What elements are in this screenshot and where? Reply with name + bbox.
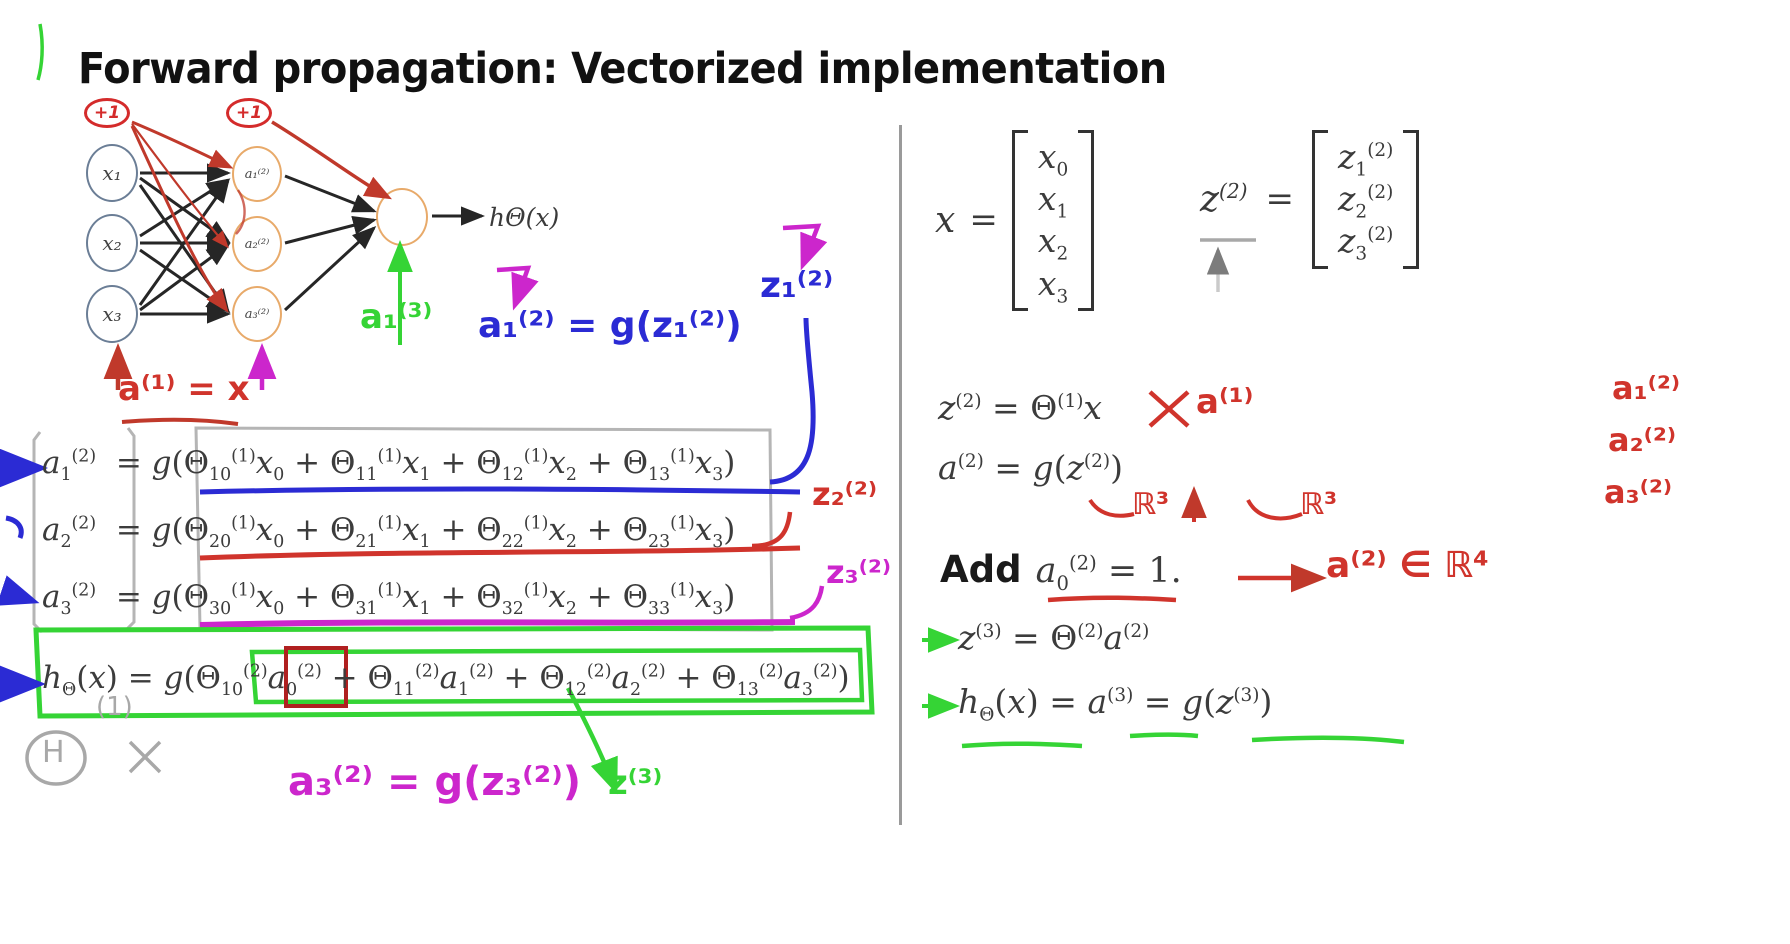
- x-vector-entry-1: x1: [1038, 178, 1068, 220]
- page-title: Forward propagation: Vectorized implemen…: [78, 44, 1167, 94]
- z-vector-entry-1: z2(2): [1338, 178, 1393, 220]
- annotation-z1-label: z₁⁽²⁾: [760, 268, 833, 304]
- equation-a1: a1(2) = g(Θ10(1)x0 + Θ11(1)x1 + Θ12(1)x2…: [42, 445, 735, 481]
- panel-divider: [899, 125, 902, 825]
- x-vector-name: x: [935, 200, 955, 241]
- annotation-a1-eq-g-z1: a₁⁽²⁾ = g(z₁⁽²⁾): [478, 308, 742, 344]
- annotation-z2-label: z₂⁽²⁾: [812, 478, 877, 510]
- equation-z3: z(3) = Θ(2)a(2): [958, 618, 1149, 657]
- input-node-x1-label: x₁: [102, 161, 121, 185]
- x-vector: x = x0 x1 x2 x3: [935, 130, 1094, 311]
- equation-z2: z(2) = Θ(1)x: [938, 388, 1102, 427]
- z-vector-equals: =: [1266, 179, 1295, 219]
- output-node: [376, 188, 428, 246]
- x-vector-matrix: x0 x1 x2 x3: [1012, 130, 1094, 311]
- equation-a2-text: a2(2) = g(Θ20(1)x0 + Θ21(1)x1 + Θ22(1)x2…: [42, 512, 735, 548]
- bias-node-layer1: +1: [84, 98, 130, 128]
- bias-node-layer2: +1: [226, 98, 272, 128]
- x-vector-entry-3: x3: [1038, 263, 1068, 305]
- add-bias-prefix: Add: [940, 548, 1022, 591]
- equation-a3-text: a3(2) = g(Θ30(1)x0 + Θ31(1)x1 + Θ32(1)x2…: [42, 579, 735, 615]
- hidden-node-a1-label: a₁⁽²⁾: [245, 167, 270, 182]
- hidden-node-a2: a₂⁽²⁾: [232, 216, 282, 272]
- annotation-grey-H-circle: H: [42, 738, 65, 768]
- annotation-a1-layer3: a₁⁽³⁾: [360, 300, 432, 334]
- annotation-z3-label: z₃⁽²⁾: [826, 556, 891, 588]
- x-vector-entry-2: x2: [1038, 220, 1068, 262]
- input-node-x2: x₂: [86, 214, 138, 272]
- bracket-right: [1403, 130, 1419, 269]
- equation-a3: a3(2) = g(Θ30(1)x0 + Θ31(1)x1 + Θ32(1)x2…: [42, 579, 735, 615]
- annotation-a1-equals-x: a⁽¹⁾ = x: [118, 372, 250, 406]
- annotation-a-vec-1: a₁⁽²⁾: [1612, 372, 1680, 404]
- z-vector: z(2) = z1(2) z2(2) z3(2): [1200, 130, 1419, 269]
- annotation-a-vec-2: a₂⁽²⁾: [1608, 424, 1676, 456]
- annotation-a1-red-sub: a⁽¹⁾: [1196, 385, 1253, 419]
- equation-hypothesis-text: hΘ(x) = g(Θ10(2)a0(2) + Θ11(2)a1(2) + Θ1…: [42, 660, 850, 696]
- input-node-x3-label: x₃: [102, 302, 121, 326]
- z-vector-entry-0: z1(2): [1338, 136, 1393, 178]
- annotation-a-vec-3: a₃⁽²⁾: [1604, 476, 1672, 508]
- hidden-node-a3-label: a₃⁽²⁾: [245, 307, 270, 322]
- equation-hypothesis: hΘ(x) = g(Θ10(2)a0(2) + Θ11(2)a1(2) + Θ1…: [42, 660, 850, 696]
- hidden-node-a1: a₁⁽²⁾: [232, 146, 282, 202]
- annotation-a3-eq-g-z3: a₃⁽²⁾ = g(z₃⁽²⁾): [288, 762, 581, 802]
- equation-a2: a2(2) = g(Θ20(1)x0 + Θ21(1)x1 + Θ22(1)x2…: [42, 512, 735, 548]
- annotation-R3-left: ℝ³: [1132, 490, 1169, 520]
- equation-z3-text: z(3) = Θ(2)a(2): [958, 618, 1149, 657]
- bracket-right: [1078, 130, 1094, 311]
- x-vector-entry-0: x0: [1038, 136, 1068, 178]
- equation-a2-vec: a(2) = g(z(2)): [938, 448, 1123, 487]
- equation-z2-text: z(2) = Θ(1)x: [938, 388, 1102, 427]
- hidden-node-a3: a₃⁽²⁾: [232, 286, 282, 342]
- equation-a2-vec-text: a(2) = g(z(2)): [938, 448, 1123, 487]
- x-vector-equals: =: [969, 200, 998, 240]
- hidden-node-a2-label: a₂⁽²⁾: [245, 237, 270, 252]
- add-bias-formula: a0(2) = 1.: [1036, 551, 1182, 591]
- input-node-x1: x₁: [86, 144, 138, 202]
- annotation-a2-in-R4: a⁽²⁾ ∈ ℝ⁴: [1326, 548, 1489, 584]
- z-vector-matrix: z1(2) z2(2) z3(2): [1312, 130, 1419, 269]
- input-node-x2-label: x₂: [102, 231, 121, 255]
- annotation-R3-right: ℝ³: [1300, 490, 1337, 520]
- bracket-left: [1312, 130, 1328, 269]
- annotation-grey-paren-1: (1): [96, 694, 133, 720]
- z-vector-name: z(2): [1200, 179, 1248, 220]
- output-label: hΘ(x): [489, 203, 559, 232]
- equation-hypothesis-vec: hΘ(x) = a(3) = g(z(3)): [958, 682, 1272, 721]
- input-node-x3: x₃: [86, 285, 138, 343]
- z-vector-entry-2: z3(2): [1338, 220, 1393, 262]
- equation-hypothesis-vec-text: hΘ(x) = a(3) = g(z(3)): [958, 682, 1272, 721]
- annotation-z3-green: z⁽³⁾: [608, 766, 662, 800]
- bracket-left: [1012, 130, 1028, 311]
- equation-a1-text: a1(2) = g(Θ10(1)x0 + Θ11(1)x1 + Θ12(1)x2…: [42, 445, 735, 481]
- add-bias-note: Add a0(2) = 1.: [940, 548, 1182, 591]
- slide-canvas: Forward propagation: Vectorized implemen…: [0, 0, 1790, 944]
